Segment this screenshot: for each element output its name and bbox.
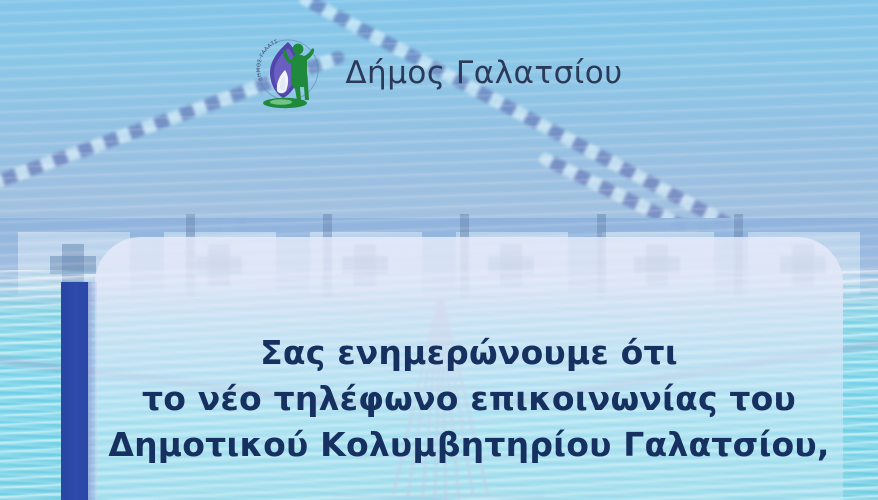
organization-name: Δήμος Γαλατσίου (345, 58, 622, 89)
galatsi-municipality-emblem-icon: ΔΗΜΟΣ ΓΑΛΑΤΣΙΟΥ (255, 34, 327, 112)
announcement-message: Σας ενημερώνουμε ότι το νέο τηλέφωνο επι… (95, 330, 843, 468)
poster-header: ΔΗΜΟΣ ΓΑΛΑΤΣΙΟΥ Δήμος Γαλατσίου (0, 34, 878, 112)
message-line-3: Δημοτικού Κολυμβητηρίου Γαλατσίου, (95, 422, 843, 468)
message-line-2: το νέο τηλέφωνο επικοινωνίας του (95, 376, 843, 422)
message-line-1: Σας ενημερώνουμε ότι (95, 330, 843, 376)
accent-bar (61, 282, 88, 500)
poster-canvas: ΔΗΜΟΣ ΓΑΛΑΤΣΙΟΥ Δήμος Γαλατσίου (0, 0, 878, 500)
